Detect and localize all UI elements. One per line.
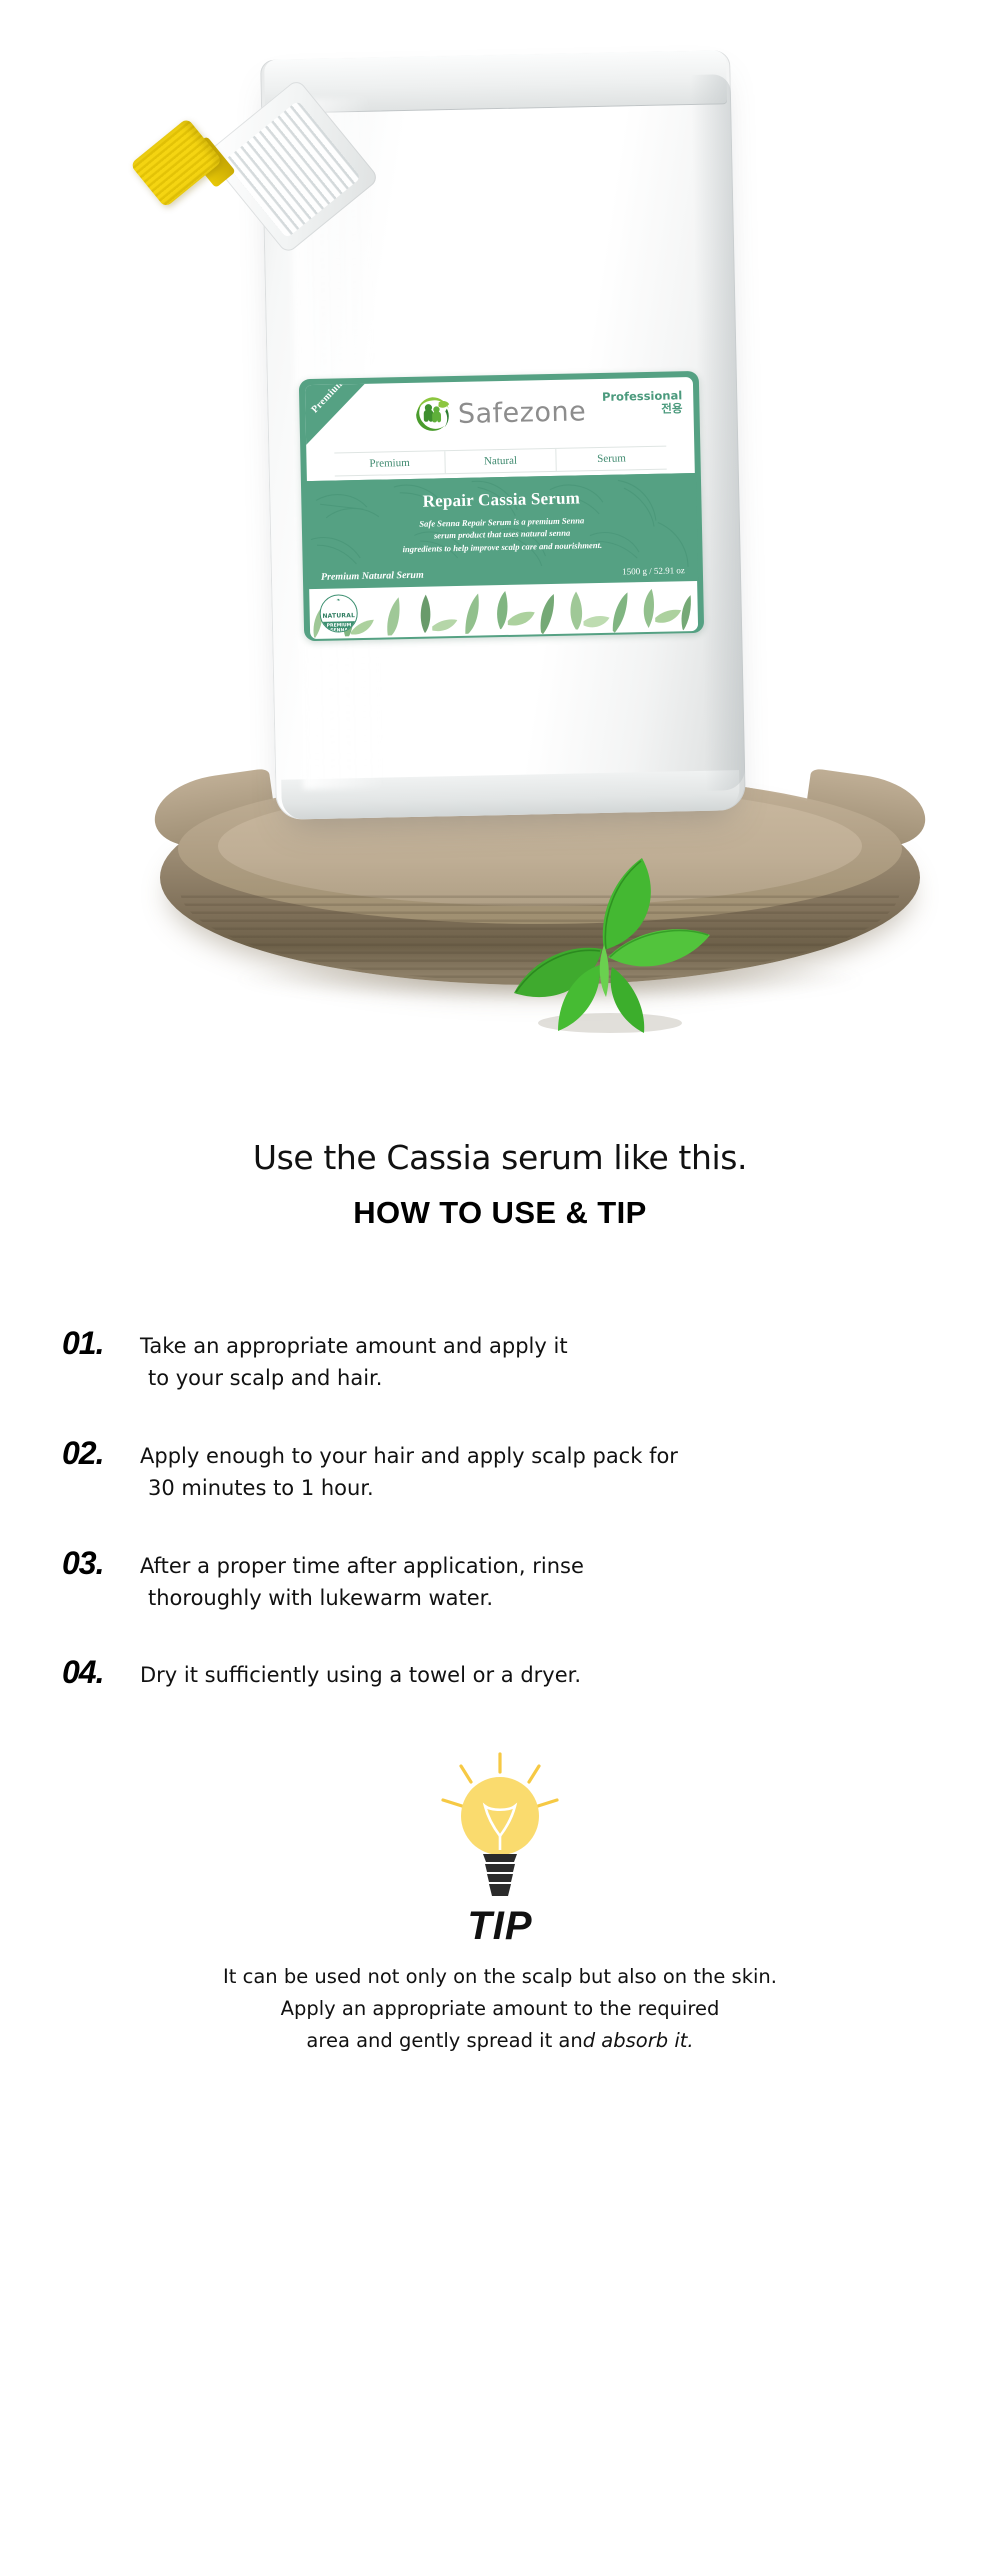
attribute-row: Premium Natural Serum xyxy=(334,446,666,477)
step-text: Take an appropriate amount and apply it … xyxy=(140,1327,568,1395)
step-text: Dry it sufficiently using a towel or a d… xyxy=(140,1656,581,1692)
attribute-serum: Serum xyxy=(555,447,666,471)
professional-block: Professional 전용 xyxy=(602,389,683,416)
safezone-logo-icon xyxy=(413,394,454,435)
label-net-weight: 1500 g / 52.91 oz xyxy=(622,565,685,576)
tip-body: It can be used not only on the scalp but… xyxy=(0,1961,1000,2056)
attribute-natural: Natural xyxy=(444,449,555,473)
tip-line-3-italic: d absorb it. xyxy=(583,2029,694,2052)
step-text: Apply enough to your hair and apply scal… xyxy=(140,1437,678,1505)
seal-leaf-icon: ❧ xyxy=(336,598,340,603)
product-description: Safe Senna Repair Serum is a premium Sen… xyxy=(307,506,698,558)
step-line-1: After a proper time after application, r… xyxy=(140,1554,584,1578)
basil-leaves-icon xyxy=(500,845,730,1035)
step-number: 04. xyxy=(62,1656,140,1688)
step-number: 01. xyxy=(62,1327,140,1359)
tip-line-3-plain: area and gently spread it an xyxy=(306,2029,582,2052)
step-item: 03. After a proper time after applicatio… xyxy=(62,1547,942,1615)
brand-part-2: one xyxy=(534,396,586,428)
brand-z: z xyxy=(519,397,534,428)
product-label: Premium Professional 전용 xyxy=(299,371,704,641)
tip-line-1: It can be used not only on the scalp but… xyxy=(223,1965,777,1988)
bulb-base xyxy=(489,1884,511,1896)
desc-line-1: Safe Senna Repair Serum is a premium Sen… xyxy=(419,515,584,528)
brand-wordmark: Safezone xyxy=(458,398,587,428)
step-text: After a proper time after application, r… xyxy=(140,1547,584,1615)
lightbulb-icon xyxy=(435,1750,565,1910)
tip-section: TIP It can be used not only on the scalp… xyxy=(0,1750,1000,2056)
step-item: 01. Take an appropriate amount and apply… xyxy=(62,1327,942,1395)
label-green-panel: Repair Cassia Serum Safe Senna Repair Se… xyxy=(306,473,698,589)
label-footer-left: Premium Natural Serum xyxy=(321,570,424,583)
step-line-1: Dry it sufficiently using a towel or a d… xyxy=(140,1663,581,1687)
step-line-2: 30 minutes to 1 hour. xyxy=(140,1473,678,1505)
label-botanical-strip: ❧ NATURAL PREMIUM SENNA xyxy=(309,581,698,639)
step-item: 04. Dry it sufficiently using a towel or… xyxy=(62,1656,942,1692)
step-line-2: to your scalp and hair. xyxy=(140,1363,568,1395)
step-line-1: Take an appropriate amount and apply it xyxy=(140,1334,568,1358)
section-headings: Use the Cassia serum like this. HOW TO U… xyxy=(0,1090,1000,1231)
seal-top-text: NATURAL xyxy=(322,612,355,620)
step-number: 03. xyxy=(62,1547,140,1579)
tip-title: TIP xyxy=(0,1904,1000,1949)
step-line-1: Apply enough to your hair and apply scal… xyxy=(140,1444,678,1468)
section-title: HOW TO USE & TIP xyxy=(0,1195,1000,1231)
botanical-illustration-icon xyxy=(309,581,698,639)
product-hero: Premium Professional 전용 xyxy=(0,0,1000,1090)
desc-line-2: serum product that uses natural senna xyxy=(434,528,571,541)
brand-part-1: Safe xyxy=(458,397,520,429)
label-header: Premium Professional 전용 xyxy=(305,377,695,481)
desc-line-3: ingredients to help improve scalp care a… xyxy=(402,540,602,554)
section-subtitle: Use the Cassia serum like this. xyxy=(0,1138,1000,1177)
step-line-2: thoroughly with lukewarm water. xyxy=(140,1583,584,1615)
professional-kr: 전용 xyxy=(602,402,682,417)
how-to-use-steps: 01. Take an appropriate amount and apply… xyxy=(0,1327,1000,1692)
step-item: 02. Apply enough to your hair and apply … xyxy=(62,1437,942,1505)
attribute-premium: Premium xyxy=(334,451,444,475)
step-number: 02. xyxy=(62,1437,140,1469)
yellow-spout-cap-icon xyxy=(130,118,223,208)
product-pouch: Premium Professional 전용 xyxy=(260,50,746,820)
tip-line-2: Apply an appropriate amount to the requi… xyxy=(281,1997,720,2020)
